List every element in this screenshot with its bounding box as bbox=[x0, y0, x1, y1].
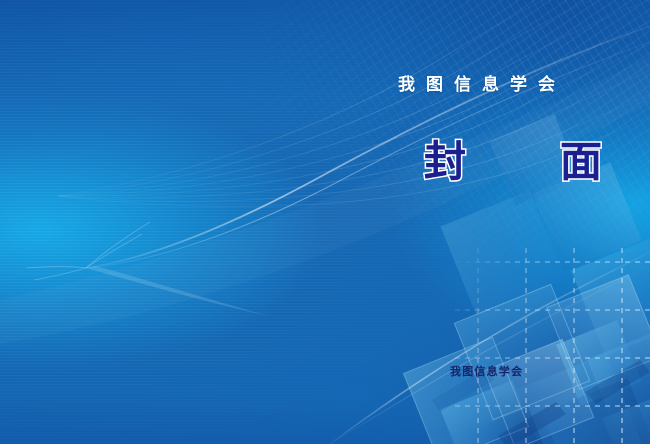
organization-header-text: 我图信息学会 bbox=[398, 70, 566, 95]
flowing-curve-ribbons bbox=[0, 0, 650, 444]
organization-footer-text: 我图信息学会 bbox=[450, 363, 523, 379]
cover-title: 封 面 bbox=[424, 128, 628, 189]
cover-poster: 我图信息学会 封 面 封 面 我图信息学会 bbox=[0, 0, 650, 444]
